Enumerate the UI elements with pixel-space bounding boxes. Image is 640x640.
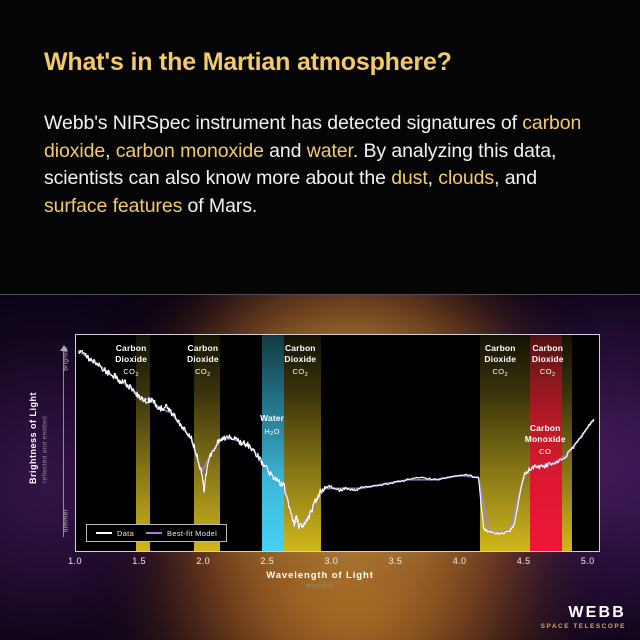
logo-subtitle: SPACE TELESCOPE bbox=[541, 623, 626, 630]
body-seg-7: of Mars. bbox=[182, 195, 257, 217]
chart-legend[interactable]: DataBest-fit Model bbox=[86, 524, 227, 542]
body-seg-6: , and bbox=[494, 167, 537, 189]
arrow-label-brighter: brighter bbox=[63, 333, 70, 385]
legend-swatch bbox=[146, 532, 162, 534]
brightness-arrow: brighter dimmer bbox=[58, 341, 70, 543]
x-tick-2.5: 2.5 bbox=[260, 556, 274, 566]
body-seg-3: and bbox=[264, 140, 307, 162]
y-axis-label-group: Brightness of Light reflected and emitte… bbox=[24, 334, 46, 552]
y-axis-subtitle: reflected and emitted bbox=[42, 350, 49, 550]
band-label-co2-5: CarbonDioxideCO2 bbox=[532, 343, 564, 379]
x-tick-1.0: 1.0 bbox=[68, 556, 82, 566]
band-label-co-6: CarbonMonoxideCO bbox=[525, 423, 566, 458]
y-axis-title: Brightness of Light bbox=[28, 338, 38, 538]
band-label-h2o-3: WaterH2O bbox=[260, 413, 284, 438]
page-title: What's in the Martian atmosphere? bbox=[44, 48, 604, 77]
body-seg-5: , bbox=[428, 167, 439, 189]
logo-wordmark: WEBB bbox=[541, 605, 626, 621]
plot-inner: CarbonDioxideCO2CarbonDioxideCO2CarbonDi… bbox=[76, 335, 599, 551]
spectrum-curves bbox=[76, 335, 599, 551]
highlight-carbon-monoxide: carbon monoxide bbox=[116, 140, 264, 162]
legend-item-data[interactable]: Data bbox=[96, 529, 134, 538]
x-tick-5.0: 5.0 bbox=[581, 556, 595, 566]
band-label-co2-2: CarbonDioxideCO2 bbox=[284, 343, 316, 379]
legend-item-best-fit-model[interactable]: Best-fit Model bbox=[146, 529, 217, 538]
x-tick-4.0: 4.0 bbox=[453, 556, 467, 566]
highlight-water: water bbox=[307, 140, 353, 162]
highlight-clouds: clouds bbox=[438, 167, 494, 189]
band-label-co2-4: CarbonDioxideCO2 bbox=[484, 343, 516, 379]
infographic-page: What's in the Martian atmosphere? Webb's… bbox=[0, 0, 640, 640]
x-tick-4.5: 4.5 bbox=[517, 556, 531, 566]
x-axis-subtitle: microns bbox=[0, 583, 640, 590]
text-panel: What's in the Martian atmosphere? Webb's… bbox=[0, 0, 640, 295]
chart-panel: Brightness of Light reflected and emitte… bbox=[0, 295, 640, 640]
x-axis-title: Wavelength of Light bbox=[0, 570, 640, 581]
highlight-surface-features: surface features bbox=[44, 195, 182, 217]
highlight-dust: dust bbox=[391, 167, 427, 189]
x-tick-3.5: 3.5 bbox=[389, 556, 403, 566]
x-tick-3.0: 3.0 bbox=[325, 556, 339, 566]
body-seg-2: , bbox=[105, 140, 116, 162]
x-tick-2.0: 2.0 bbox=[196, 556, 210, 566]
x-tick-1.5: 1.5 bbox=[132, 556, 146, 566]
legend-label: Best-fit Model bbox=[167, 529, 217, 538]
webb-logo: WEBB SPACE TELESCOPE bbox=[541, 605, 626, 630]
arrow-label-dimmer: dimmer bbox=[63, 495, 70, 547]
body-paragraph: Webb's NIRSpec instrument has detected s… bbox=[44, 110, 589, 220]
band-label-co2-0: CarbonDioxideCO2 bbox=[115, 343, 147, 379]
series-best-fit-model bbox=[79, 350, 594, 531]
legend-label: Data bbox=[117, 529, 134, 538]
body-seg-1: Webb's NIRSpec instrument has detected s… bbox=[44, 112, 522, 134]
spectrum-plot[interactable]: CarbonDioxideCO2CarbonDioxideCO2CarbonDi… bbox=[75, 334, 600, 552]
x-axis-ticks: 1.01.52.02.53.03.54.04.55.0 bbox=[75, 556, 600, 570]
band-label-co2-1: CarbonDioxideCO2 bbox=[187, 343, 219, 379]
legend-swatch bbox=[96, 532, 112, 534]
